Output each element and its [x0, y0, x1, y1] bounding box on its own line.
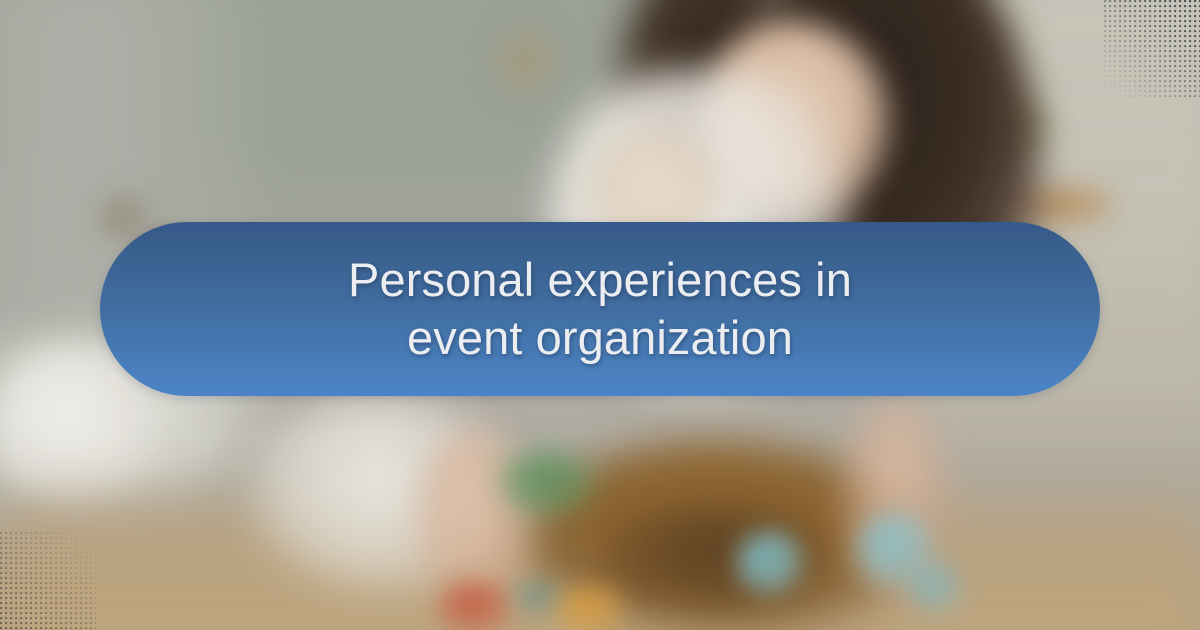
halftone-dots-bottom-left-icon: [0, 532, 96, 630]
halftone-dots-top-right-icon: [1104, 0, 1200, 98]
share-card-canvas: Personal experiences in event organizati…: [0, 0, 1200, 630]
title-pill: Personal experiences in event organizati…: [100, 222, 1100, 396]
page-title: Personal experiences in event organizati…: [308, 251, 892, 367]
